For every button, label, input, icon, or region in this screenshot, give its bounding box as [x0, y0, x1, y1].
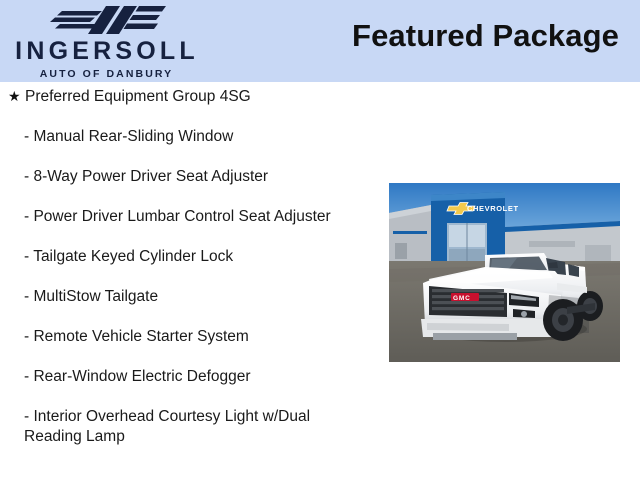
feature-list: ★Preferred Equipment Group 4SG- Manual R…: [0, 86, 350, 467]
vehicle-photo: CHEVROLET: [389, 183, 620, 362]
brand-name: INGERSOLL: [11, 39, 199, 64]
page-title: Featured Package: [352, 18, 619, 54]
feature-item-label: - Power Driver Lumbar Control Seat Adjus…: [24, 208, 331, 225]
dealership-logo: INGERSOLL AUTO OF DANBURY: [0, 2, 210, 80]
svg-text:CHEVROLET: CHEVROLET: [467, 204, 519, 213]
feature-item: - 8-Way Power Driver Seat Adjuster: [0, 167, 350, 187]
feature-item: - Tailgate Keyed Cylinder Lock: [0, 247, 350, 267]
feature-item-label: Preferred Equipment Group 4SG: [25, 88, 251, 105]
star-bullet-icon: ★: [8, 86, 25, 106]
feature-item-label: - Rear-Window Electric Defogger: [24, 368, 251, 385]
feature-item: - Interior Overhead Courtesy Light w/Dua…: [0, 407, 350, 447]
feature-item: - Remote Vehicle Starter System: [0, 327, 350, 347]
brand-tagline: AUTO OF DANBURY: [37, 69, 174, 80]
feature-item-label: - Tailgate Keyed Cylinder Lock: [24, 248, 233, 265]
feature-item-label: - Remote Vehicle Starter System: [24, 328, 249, 345]
feature-item: - Rear-Window Electric Defogger: [0, 367, 350, 387]
feature-item: ★Preferred Equipment Group 4SG: [0, 86, 350, 107]
ingersoll-wing-emblem-icon: [40, 2, 170, 38]
page-header: INGERSOLL AUTO OF DANBURY Featured Packa…: [0, 0, 640, 82]
feature-item-label: - 8-Way Power Driver Seat Adjuster: [24, 168, 268, 185]
feature-item-label: - Manual Rear-Sliding Window: [24, 128, 233, 145]
feature-item: - MultiStow Tailgate: [0, 287, 350, 307]
feature-item: - Manual Rear-Sliding Window: [0, 127, 350, 147]
feature-item-label: - Interior Overhead Courtesy Light w/Dua…: [24, 408, 314, 445]
feature-item-label: - MultiStow Tailgate: [24, 288, 158, 305]
svg-text:GMC: GMC: [453, 295, 471, 302]
feature-item: - Power Driver Lumbar Control Seat Adjus…: [0, 207, 350, 227]
